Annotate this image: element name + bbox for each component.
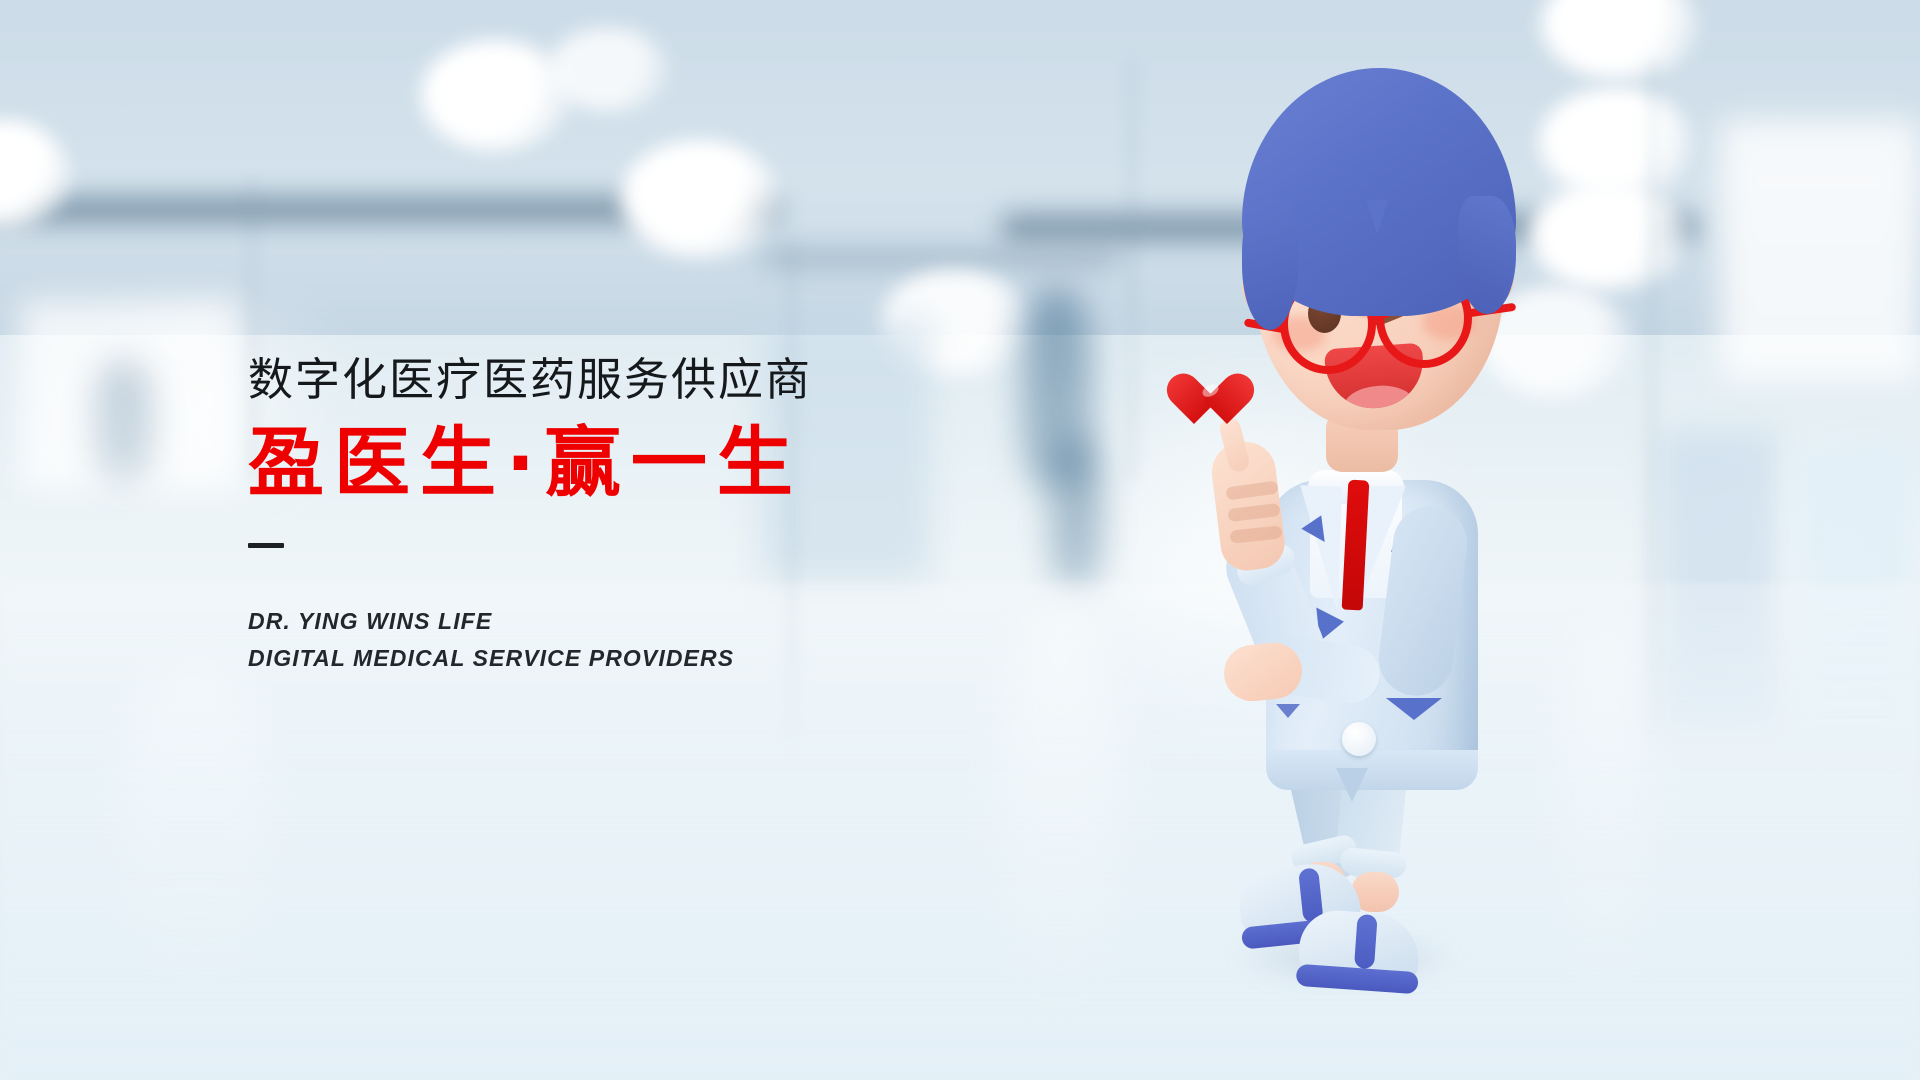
coat-hem [1266,750,1478,790]
hair-side-left [1242,200,1298,330]
floor-streak [120,660,270,1000]
hero-kicker: 数字化医疗医药服务供应商 [248,355,1028,405]
coat-button [1342,722,1376,756]
hair-peak [1366,200,1388,234]
hero-english-line-2: DIGITAL MEDICAL SERVICE PROVIDERS [248,640,1028,677]
ceiling-light [620,140,780,258]
hair-side-right [1458,196,1516,314]
hero-headline: 盈医生·赢一生 [248,421,1028,505]
wall-panel [1720,120,1920,380]
hero-english: DR. YING WINS LIFE DIGITAL MEDICAL SERVI… [248,603,1028,678]
shoe-strap [1354,914,1378,969]
ceiling-light [420,40,570,152]
blurred-person [95,360,153,480]
coat-notch [1336,768,1368,802]
divider-rule [248,543,284,548]
doctor-mascot [1190,50,1590,1060]
coat-trim [1386,698,1442,720]
coat-trim [1276,704,1300,718]
hero-banner: 数字化医疗医药服务供应商 盈医生·赢一生 DR. YING WINS LIFE … [0,0,1920,1080]
ceiling-beam [760,250,1120,266]
heart-icon [1192,376,1254,434]
hero-copy: 数字化医疗医药服务供应商 盈医生·赢一生 DR. YING WINS LIFE … [248,355,1028,677]
mullion [1130,60,1134,480]
hero-english-line-1: DR. YING WINS LIFE [248,603,1028,640]
ceiling-light [548,28,668,112]
blurred-person [1050,436,1102,586]
